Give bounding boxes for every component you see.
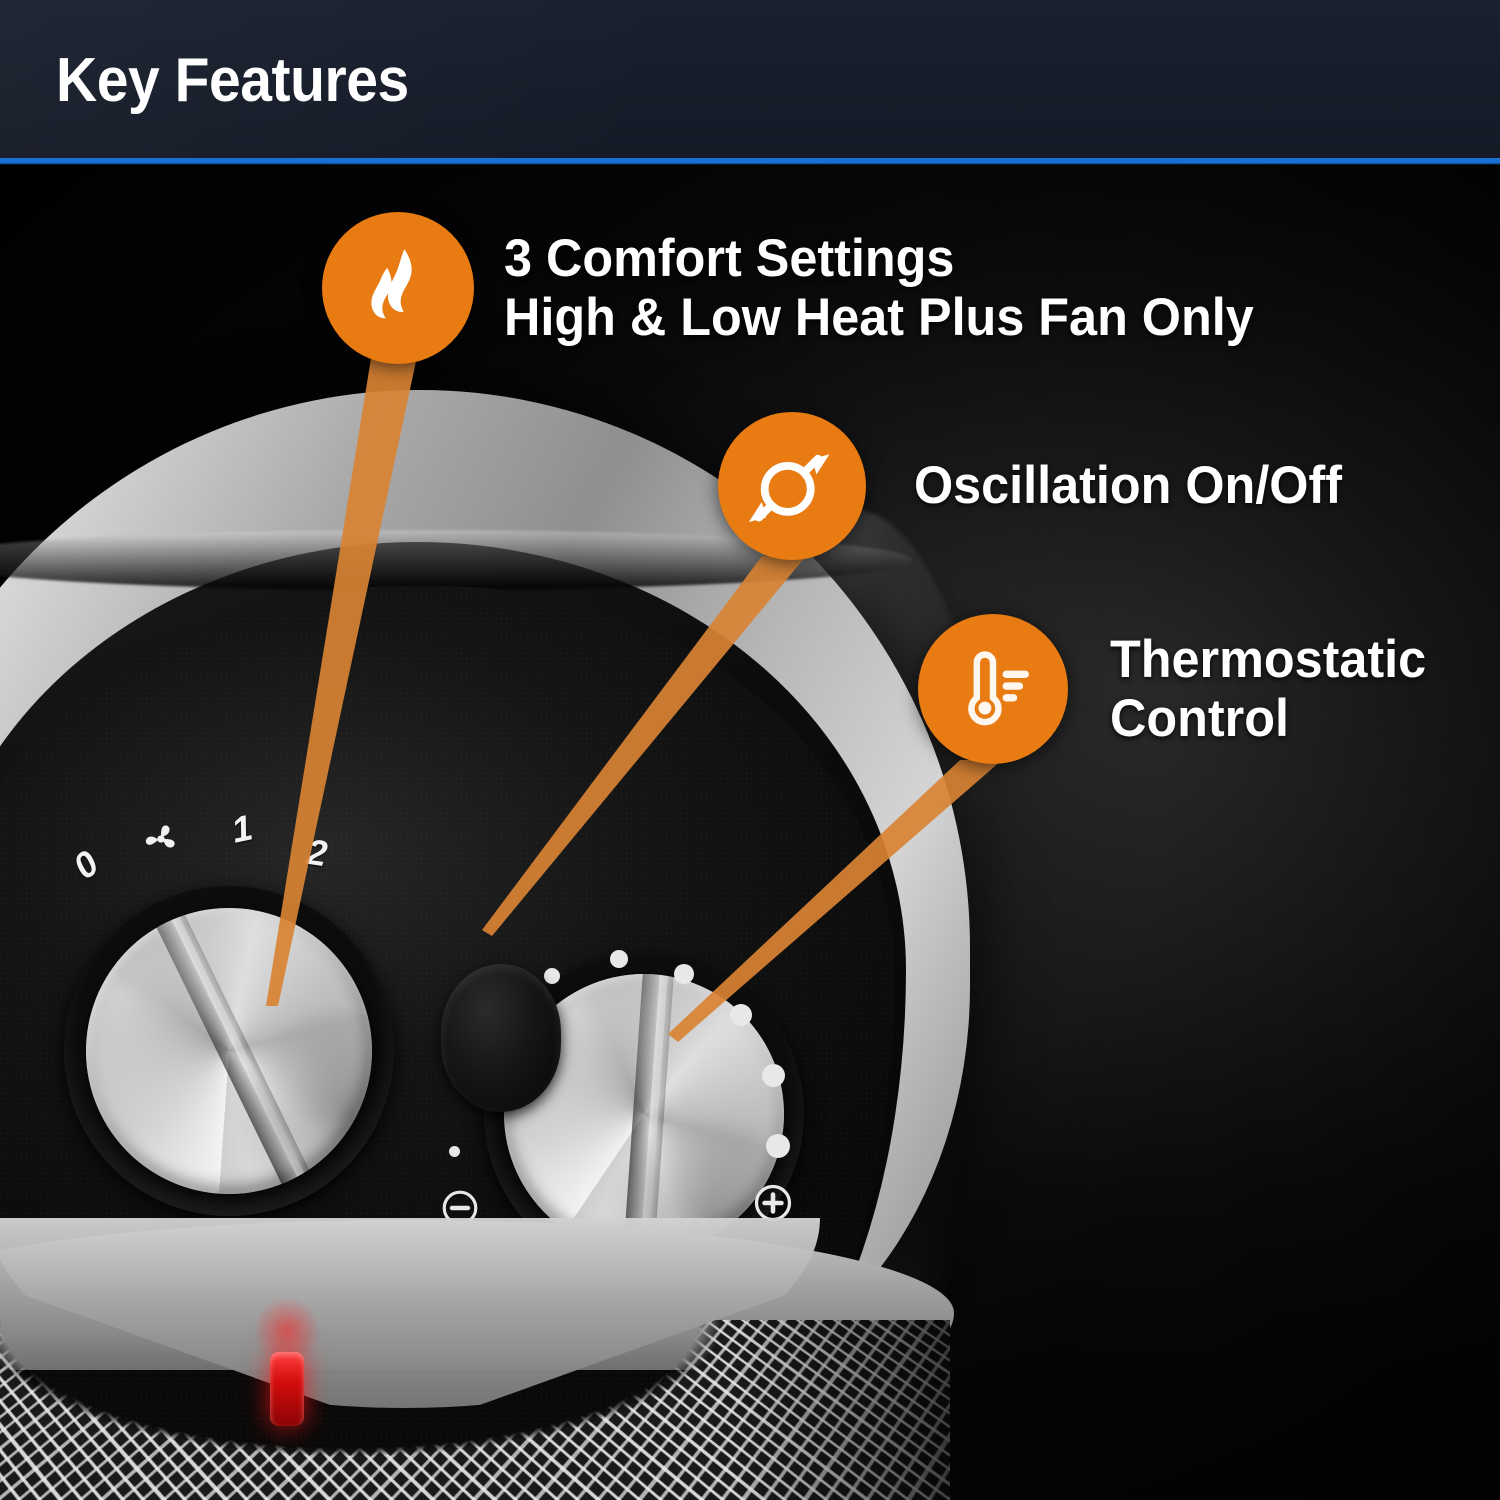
feature-comfort-settings: 3 Comfort Settings High & Low Heat Plus …: [322, 212, 1293, 364]
power-indicator-led: [270, 1352, 304, 1426]
mode-knob-dial[interactable]: [38, 860, 420, 1242]
feature-line1: Thermostatic: [1110, 630, 1426, 689]
feature-line2: High & Low Heat Plus Fan Only: [504, 288, 1254, 347]
feature-text-thermostatic-control: Thermostatic Control: [1110, 630, 1426, 749]
thermostat-pip: [544, 968, 560, 984]
fan-icon: [140, 818, 182, 865]
header-band: Key Features: [0, 0, 1500, 158]
feature-thermostatic-control: Thermostatic Control: [918, 614, 1443, 764]
feature-text-comfort-settings: 3 Comfort Settings High & Low Heat Plus …: [504, 229, 1254, 348]
feature-line1: Oscillation On/Off: [914, 456, 1342, 515]
oscillation-icon: [718, 412, 866, 560]
thermometer-icon: [918, 614, 1068, 764]
feature-text-oscillation: Oscillation On/Off: [914, 456, 1342, 515]
thermostat-pip: [730, 1004, 752, 1026]
oscillation-pivot-button[interactable]: [441, 964, 561, 1112]
feature-line2: Control: [1110, 689, 1426, 748]
page-title: Key Features: [56, 50, 409, 112]
thermostat-pip: [674, 964, 694, 984]
thermostat-pip: [766, 1134, 790, 1158]
header-accent-bar: [0, 158, 1500, 165]
feature-line1: 3 Comfort Settings: [504, 229, 954, 288]
thermostat-pip: [762, 1064, 785, 1087]
thermostat-pip: [449, 1146, 460, 1157]
flame-icon: [322, 212, 474, 364]
thermostat-pip: [610, 950, 628, 968]
feature-oscillation: Oscillation On/Off: [718, 412, 1365, 560]
mode-selector-knob[interactable]: [64, 886, 394, 1216]
infographic-canvas: 0 1 2: [0, 0, 1500, 1500]
